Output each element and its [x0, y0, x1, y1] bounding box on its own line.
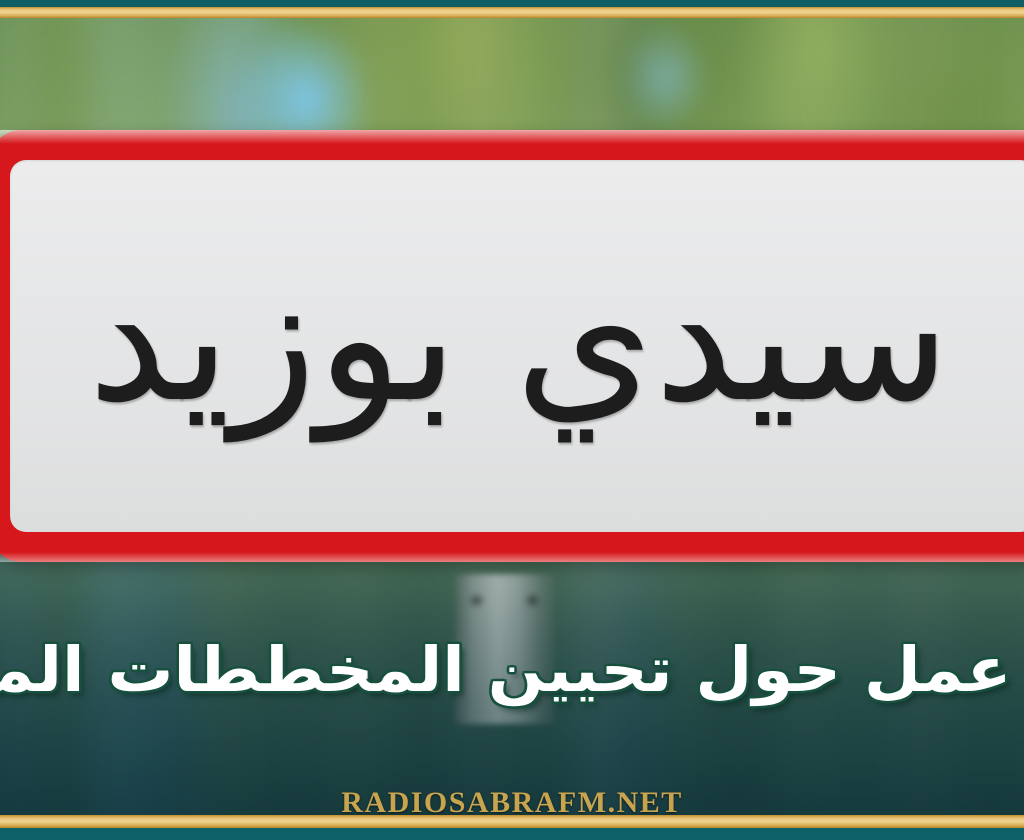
sign-gloss-top: [0, 130, 1024, 144]
headline-text: جلسة عمل حول تحيين المخططات المرورية: [0, 639, 1024, 701]
road-sign: سيدي بوزيد: [0, 130, 1024, 562]
frame-band-gold-bottom: [0, 815, 1024, 828]
sign-place-name: سيدي بوزيد: [88, 249, 951, 443]
frame-band-teal-top: [0, 0, 1024, 7]
sign-plate: سيدي بوزيد: [10, 160, 1024, 532]
headline-banner: جلسة عمل حول تحيين المخططات المرورية: [0, 618, 1024, 722]
sign-gloss-bottom: [0, 552, 1024, 562]
frame-band-teal-bottom: [0, 828, 1024, 840]
screenshot-canvas: سيدي بوزيد جلسة عمل حول تحيين المخططات ا…: [0, 0, 1024, 840]
frame-band-gold-top: [0, 7, 1024, 18]
